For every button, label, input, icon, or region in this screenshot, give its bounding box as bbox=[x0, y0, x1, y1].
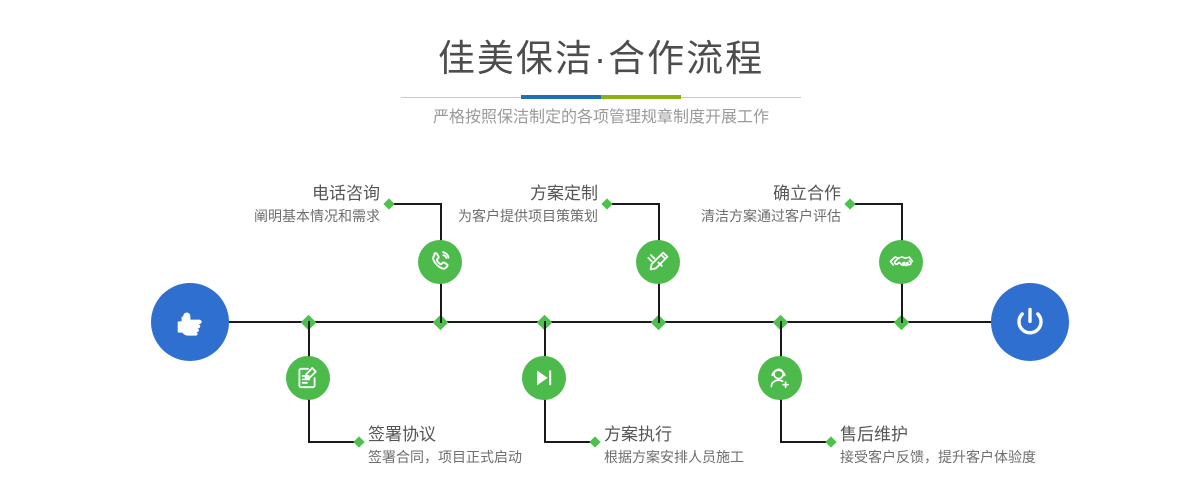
page-subtitle: 严格按照保洁制定的各项管理规章制度开展工作 bbox=[0, 106, 1202, 130]
step-3-label: 方案定制 为客户提供项目策策划 bbox=[398, 183, 598, 227]
step-6-desc: 接受客户反馈，提升客户体验度 bbox=[840, 447, 1100, 468]
step-5-horizontal-connector bbox=[851, 203, 903, 205]
phone-call-icon bbox=[427, 249, 453, 275]
step-1-title: 电话咨询 bbox=[180, 183, 380, 205]
step-5-desc: 清洁方案通过客户评估 bbox=[641, 206, 841, 227]
divider-green-segment bbox=[601, 95, 681, 99]
pointing-hand-icon bbox=[170, 302, 210, 342]
power-icon bbox=[1009, 301, 1051, 343]
step-2-icon-bubble[interactable] bbox=[286, 356, 330, 400]
timeline-end-node[interactable] bbox=[991, 283, 1069, 361]
step-2-desc: 签署合同，项目正式启动 bbox=[368, 447, 608, 468]
step-4-label: 方案执行 根据方案安排人员施工 bbox=[604, 424, 844, 468]
step-5-label-diamond bbox=[844, 198, 855, 209]
step-3-label-diamond bbox=[601, 198, 612, 209]
step-3-desc: 为客户提供项目策策划 bbox=[398, 206, 598, 227]
step-6-label: 售后维护 接受客户反馈，提升客户体验度 bbox=[840, 424, 1100, 468]
handshake-icon bbox=[888, 249, 915, 276]
flow-diagram-canvas: 佳美保洁·合作流程 严格按照保洁制定的各项管理规章制度开展工作 bbox=[0, 0, 1202, 502]
step-5-icon-bubble[interactable] bbox=[879, 240, 923, 284]
play-execute-icon bbox=[531, 365, 557, 391]
step-1-icon-bubble[interactable] bbox=[418, 240, 462, 284]
step-1-label: 电话咨询 阐明基本情况和需求 bbox=[180, 183, 380, 227]
step-2-label: 签署协议 签署合同，项目正式启动 bbox=[368, 424, 608, 468]
step-6-icon-bubble[interactable] bbox=[758, 356, 802, 400]
step-4-icon-bubble[interactable] bbox=[522, 356, 566, 400]
customer-service-add-icon bbox=[767, 365, 793, 391]
step-5-label: 确立合作 清洁方案通过客户评估 bbox=[641, 183, 841, 227]
step-2-label-diamond bbox=[353, 436, 364, 447]
ruler-pencil-icon bbox=[645, 249, 671, 275]
step-1-label-diamond bbox=[383, 198, 394, 209]
step-3-icon-bubble[interactable] bbox=[636, 240, 680, 284]
step-5-title: 确立合作 bbox=[641, 183, 841, 205]
step-1-desc: 阐明基本情况和需求 bbox=[180, 206, 380, 227]
step-4-desc: 根据方案安排人员施工 bbox=[604, 447, 844, 468]
page-title: 佳美保洁·合作流程 bbox=[0, 37, 1202, 81]
step-3-title: 方案定制 bbox=[398, 183, 598, 205]
step-6-title: 售后维护 bbox=[840, 424, 1100, 446]
timeline-start-node[interactable] bbox=[151, 283, 229, 361]
divider-blue-segment bbox=[521, 95, 601, 99]
title-divider bbox=[401, 95, 801, 99]
document-edit-icon bbox=[295, 365, 321, 391]
